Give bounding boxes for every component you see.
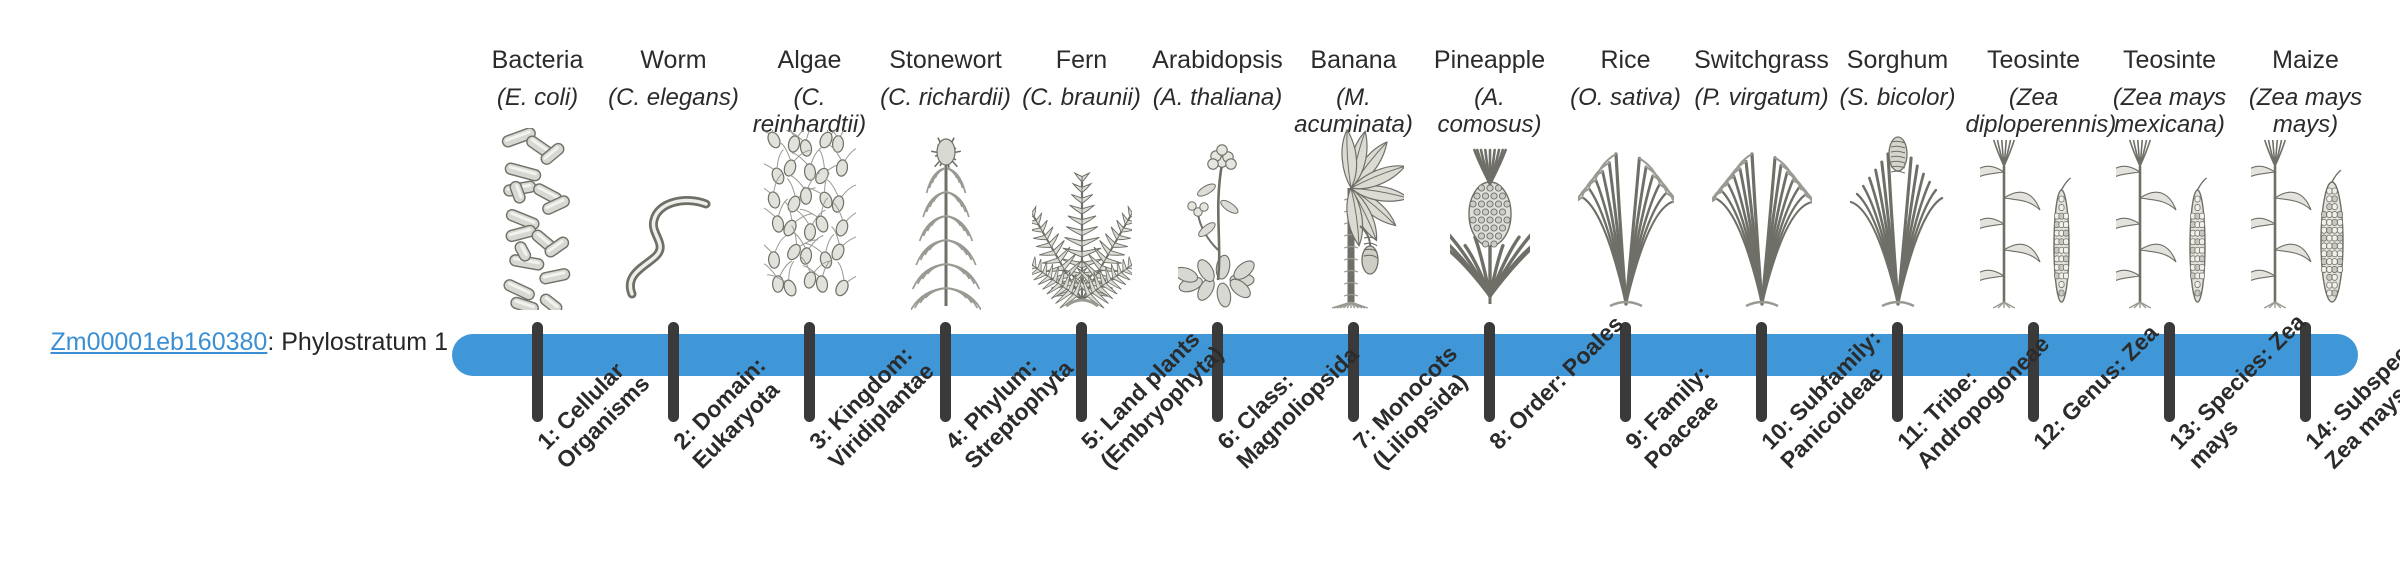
species-scientific-name: (E. coli) — [470, 85, 606, 112]
pineapple-icon — [1422, 160, 1558, 310]
maize-icon — [2238, 160, 2374, 310]
species-common-name: Bacteria — [470, 46, 606, 74]
phylostratum-timeline-figure: Zm00001eb160380: Phylostratum 1 Bacteria… — [0, 0, 2400, 580]
species-column-maize: Maize(Zea mays mays) — [2238, 46, 2374, 139]
species-column-teosinte: Teosinte(Zea diploperennis) — [1966, 46, 2102, 139]
gene-phylostratum-label: Zm00001eb160380: Phylostratum 1 — [0, 330, 448, 355]
banana-icon — [1286, 160, 1422, 310]
species-common-name: Banana — [1286, 46, 1422, 74]
bacteria-icon — [470, 160, 606, 310]
species-common-name: Arabidopsis — [1150, 46, 1286, 74]
gene-id-link[interactable]: Zm00001eb160380 — [50, 328, 267, 356]
species-common-name: Fern — [1014, 46, 1150, 74]
species-column-arabidopsis: Arabidopsis(A. thaliana) — [1150, 46, 1286, 112]
rice-icon — [1558, 160, 1694, 310]
teosinte-diploperennis-icon — [1966, 160, 2102, 310]
arabidopsis-icon — [1150, 160, 1286, 310]
species-column-switchgrass: Switchgrass(P. virgatum) — [1694, 46, 1830, 112]
species-column-stonewort: Stonewort(C. richardii) — [878, 46, 1014, 112]
species-column-rice: Rice(O. sativa) — [1558, 46, 1694, 112]
species-common-name: Rice — [1558, 46, 1694, 74]
species-common-name: Sorghum — [1830, 46, 1966, 74]
species-column-worm: Worm(C. elegans) — [606, 46, 742, 112]
species-scientific-name: (S. bicolor) — [1830, 85, 1966, 112]
species-column-banana: Banana(M. acuminata) — [1286, 46, 1422, 139]
fern-icon — [1014, 160, 1150, 310]
species-scientific-name: (C. braunii) — [1014, 85, 1150, 112]
species-common-name: Worm — [606, 46, 742, 74]
teosinte-mexicana-icon — [2102, 160, 2238, 310]
species-scientific-name: (C. richardii) — [878, 85, 1014, 112]
phylostratum-value: Phylostratum 1 — [281, 328, 448, 356]
species-common-name: Stonewort — [878, 46, 1014, 74]
species-scientific-name: (O. sativa) — [1558, 85, 1694, 112]
gene-label-separator: : — [267, 328, 281, 356]
species-scientific-name: (C. elegans) — [606, 85, 742, 112]
species-common-name: Maize — [2238, 46, 2374, 74]
species-common-name: Algae — [742, 46, 878, 74]
timeline-tick-9 — [1620, 322, 1631, 422]
timeline-tick-1 — [532, 322, 543, 422]
species-common-name: Switchgrass — [1694, 46, 1830, 74]
species-column-pineapple: Pineapple(A. comosus) — [1422, 46, 1558, 139]
worm-icon — [606, 160, 742, 310]
algae-icon — [742, 160, 878, 310]
timeline-tick-13 — [2164, 322, 2175, 422]
species-common-name: Teosinte — [2102, 46, 2238, 74]
species-column-teosinte: Teosinte(Zea mays mexicana) — [2102, 46, 2238, 139]
sorghum-icon — [1830, 160, 1966, 310]
species-column-sorghum: Sorghum(S. bicolor) — [1830, 46, 1966, 112]
species-column-fern: Fern(C. braunii) — [1014, 46, 1150, 112]
species-scientific-name: (P. virgatum) — [1694, 85, 1830, 112]
species-column-algae: Algae(C. reinhardtii) — [742, 46, 878, 139]
stonewort-icon — [878, 160, 1014, 310]
switchgrass-icon — [1694, 160, 1830, 310]
species-common-name: Teosinte — [1966, 46, 2102, 74]
species-scientific-name: (A. thaliana) — [1150, 85, 1286, 112]
species-common-name: Pineapple — [1422, 46, 1558, 74]
species-column-bacteria: Bacteria(E. coli) — [470, 46, 606, 112]
